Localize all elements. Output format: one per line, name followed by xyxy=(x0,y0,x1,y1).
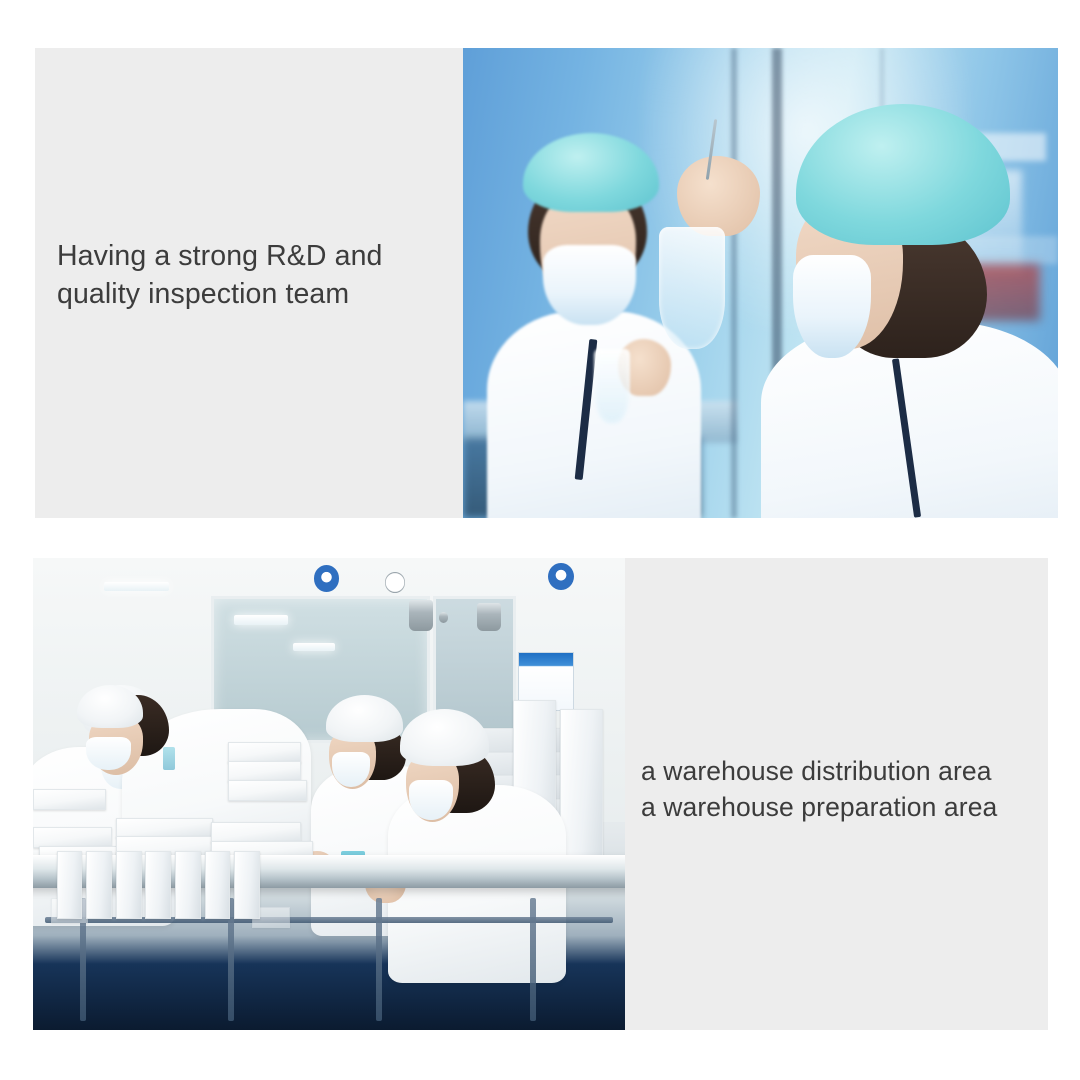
carton-edge-7 xyxy=(234,851,260,919)
carton-front-8 xyxy=(228,742,301,763)
table-leg-c xyxy=(376,898,382,1021)
carton-front-4 xyxy=(116,818,213,839)
warehouse-packing-photo xyxy=(33,558,625,1030)
carton-edge-5 xyxy=(175,851,201,919)
section-bottom: a warehouse distribution area a warehous… xyxy=(33,558,1048,1030)
banner-page: Having a strong R&D and quality inspecti… xyxy=(0,0,1080,1080)
carton-edge-1 xyxy=(57,851,83,919)
steel-canister-a xyxy=(409,600,433,631)
technician-b-raised-hand xyxy=(677,156,760,236)
lab-column-left xyxy=(731,48,737,518)
packer-2-hairnet xyxy=(77,685,142,727)
table-leg-d xyxy=(530,898,536,1021)
ceiling-light-b xyxy=(293,643,334,651)
carton-edge-6 xyxy=(205,851,231,919)
top-text-pane: Having a strong R&D and quality inspecti… xyxy=(35,48,463,518)
carton-edge-2 xyxy=(86,851,112,919)
sample-vial-right xyxy=(659,227,724,349)
ceiling-light-a xyxy=(234,615,287,625)
carton-front-1 xyxy=(33,827,112,848)
carton-column-b xyxy=(560,709,603,862)
steel-canister-b xyxy=(477,603,501,631)
carton-edge-4 xyxy=(145,851,171,919)
lab-scene xyxy=(463,48,1058,518)
bottom-caption: a warehouse distribution area a warehous… xyxy=(641,754,1046,825)
sample-vial-left xyxy=(594,349,630,424)
small-jar xyxy=(439,612,448,622)
packing-scene xyxy=(33,558,625,1030)
packer-2-badge xyxy=(163,747,175,771)
carton-front-3 xyxy=(33,789,106,810)
section-top: Having a strong R&D and quality inspecti… xyxy=(35,48,1058,518)
lab-team-photo xyxy=(463,48,1058,518)
carton-front-9 xyxy=(228,761,301,782)
carton-edge-3 xyxy=(116,851,142,919)
carton-front-10 xyxy=(228,780,307,801)
wall-logo-badge-b xyxy=(548,563,574,590)
top-caption: Having a strong R&D and quality inspecti… xyxy=(57,238,457,313)
ceiling-light-c xyxy=(104,582,169,591)
wall-logo-badge-a xyxy=(314,565,339,591)
carton-front-6 xyxy=(211,822,302,843)
